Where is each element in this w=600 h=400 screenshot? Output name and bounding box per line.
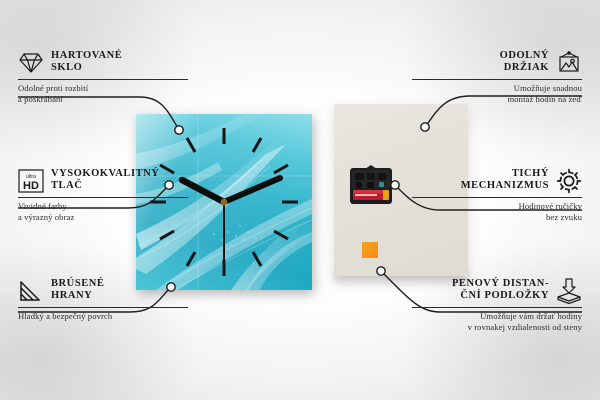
bevel-lines-icon	[18, 278, 44, 304]
feature-high-quality-print: ultra HD VYSOKOKVALITNÝ TLAČ Vividné far…	[18, 168, 188, 222]
feature-silent-mechanism: TICHÝ MECHANIZMUS Hodinové ručičky bez z…	[412, 168, 582, 222]
feature-titles: TICHÝ MECHANIZMUS	[412, 168, 549, 193]
feature-sub-line-1: Hodinové ručičky	[412, 198, 582, 212]
feature-sub-line-2: montáž hodin na zeď	[412, 94, 582, 105]
infographic-canvas: HARTOVANÉ SKLO Odolné proti rozbití a po…	[0, 0, 600, 400]
feature-title-line-1: TICHÝ	[412, 168, 549, 180]
feature-sub-line-2: a poškrábání	[18, 94, 188, 105]
feature-ground-edges: BRÚSENÉ HRANY Hladký a bezpečný povrch	[18, 278, 188, 322]
feature-sub-line-1: Odolné proti rozbití	[18, 80, 188, 94]
feature-sub-line-1: Umožňuje snadnou	[412, 80, 582, 94]
feature-header: ultra HD VYSOKOKVALITNÝ TLAČ	[18, 168, 188, 197]
feature-sub-line-1: Vividné farby	[18, 198, 188, 212]
leader-anchor-tempered-glass	[175, 126, 183, 134]
svg-text:HD: HD	[23, 180, 39, 192]
feature-tempered-glass: HARTOVANÉ SKLO Odolné proti rozbití a po…	[18, 50, 188, 104]
feature-titles: HARTOVANÉ SKLO	[51, 50, 188, 75]
feature-title-line-2: HRANY	[51, 290, 188, 302]
leader-anchor-mechanism	[391, 181, 399, 189]
diamond-icon	[18, 50, 44, 76]
framed-picture-icon	[556, 50, 582, 76]
feature-foam-spacers: PENOVÝ DISTAN- ČNÍ PODLOŽKY Umožňuje vám…	[412, 278, 582, 332]
feature-title-line-1: VYSOKOKVALITNÝ	[51, 168, 188, 180]
feature-titles: VYSOKOKVALITNÝ TLAČ	[51, 168, 188, 193]
feature-header: ODOLNÝ DRŽIAK	[412, 50, 582, 79]
feature-title-line-2: MECHANIZMUS	[412, 180, 549, 192]
feature-title-line-2: DRŽIAK	[412, 62, 549, 74]
feature-sub-line-2: v rovnakej vzdialenosti od steny	[412, 322, 582, 333]
feature-header: PENOVÝ DISTAN- ČNÍ PODLOŽKY	[412, 278, 582, 307]
feature-header: BRÚSENÉ HRANY	[18, 278, 188, 307]
feature-header: HARTOVANÉ SKLO	[18, 50, 188, 79]
feature-title-line-1: PENOVÝ DISTAN-	[412, 278, 549, 290]
press-layers-icon	[556, 278, 582, 304]
leader-anchor-holder	[421, 123, 429, 131]
feature-title-line-2: TLAČ	[51, 180, 188, 192]
feature-titles: BRÚSENÉ HRANY	[51, 278, 188, 303]
feature-durable-holder: ODOLNÝ DRŽIAK Umožňuje snadnou montáž ho…	[412, 50, 582, 104]
leader-anchor-foam	[377, 267, 385, 275]
feature-title-line-1: HARTOVANÉ	[51, 50, 188, 62]
feature-titles: ODOLNÝ DRŽIAK	[412, 50, 549, 75]
feature-sub-line-1: Hladký a bezpečný povrch	[18, 308, 188, 322]
feature-sub-line-2: a výrazný obraz	[18, 212, 188, 223]
gear-icon	[556, 168, 582, 194]
feature-sub-line-1: Umožňuje vám držať hodiny	[412, 308, 582, 322]
feature-titles: PENOVÝ DISTAN- ČNÍ PODLOŽKY	[412, 278, 549, 303]
feature-header: TICHÝ MECHANIZMUS	[412, 168, 582, 197]
feature-title-line-1: ODOLNÝ	[412, 50, 549, 62]
feature-sub-line-2: bez zvuku	[412, 212, 582, 223]
ultra-hd-icon: ultra HD	[18, 168, 44, 194]
feature-title-line-1: BRÚSENÉ	[51, 278, 188, 290]
feature-title-line-2: SKLO	[51, 62, 188, 74]
feature-title-line-2: ČNÍ PODLOŽKY	[412, 290, 549, 302]
